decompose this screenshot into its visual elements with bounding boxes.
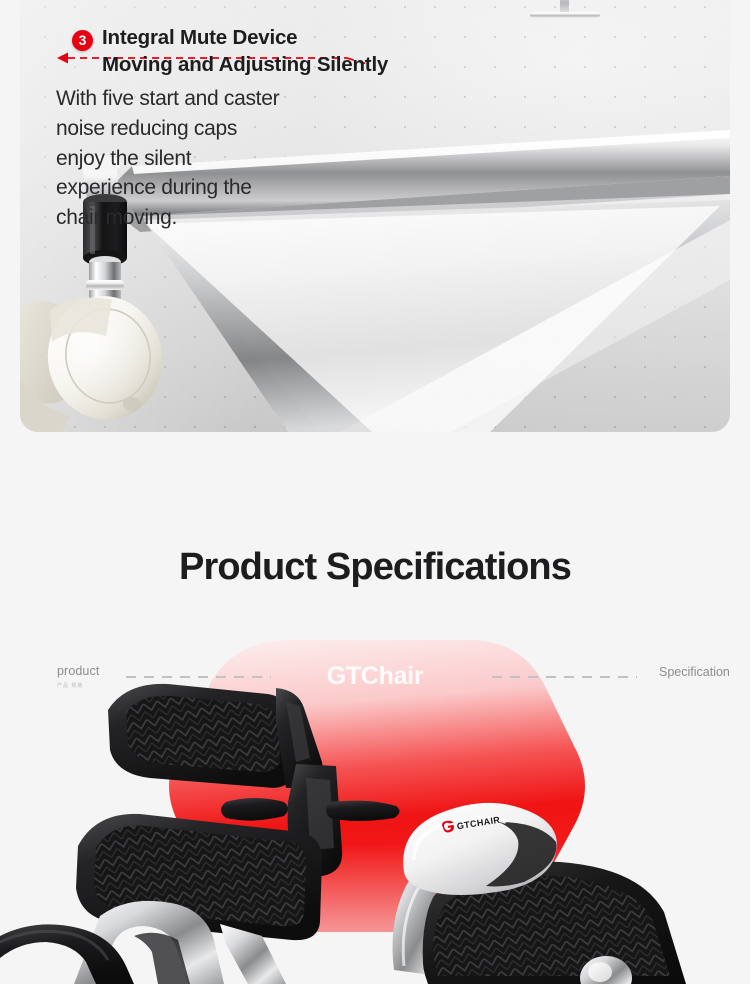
body-line-5: chair moving. [56,203,386,233]
body-line-4: experience during the [56,173,386,203]
step-number-badge: 3 [72,30,93,51]
feature-headline: 3 Integral Mute Device Moving and Adjust… [72,24,492,79]
brand-watermark: GTChair [0,662,750,691]
spec-label-right: Specification [659,664,719,681]
headline-line-2: Moving and Adjusting Silently [102,51,388,78]
page-title: Product Specifications [0,546,750,589]
body-line-1: With five start and caster [56,84,386,114]
feature-card-mute-device: 3 Integral Mute Device Moving and Adjust… [20,0,730,432]
feature-body-copy: With five start and caster noise reducin… [56,84,386,233]
body-line-3: enjoy the silent [56,144,386,174]
product-detail-page: 3 Integral Mute Device Moving and Adjust… [0,0,750,984]
spec-label-left-text: product [57,664,99,678]
headline-line-1: Integral Mute Device [102,24,388,51]
body-line-2: noise reducing caps [56,114,386,144]
spec-label-left: product 产品 规格 [57,664,99,689]
spec-label-left-subtext: 产品 规格 [57,682,99,689]
